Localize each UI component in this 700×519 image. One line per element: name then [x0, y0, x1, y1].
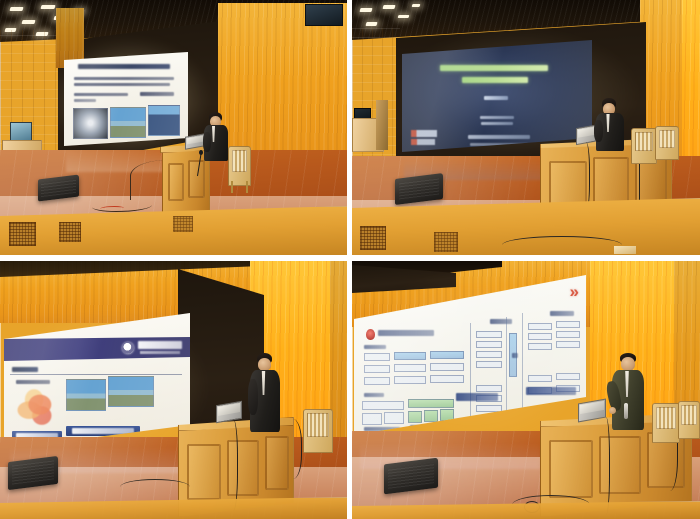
slide-body-line	[74, 93, 128, 96]
collage-panel-top-left	[0, 0, 347, 255]
slide-body-line	[74, 83, 170, 86]
double-chevron-icon: »	[570, 283, 578, 300]
diagram-block	[430, 351, 464, 359]
diagram-block	[424, 410, 438, 422]
hand	[609, 407, 616, 414]
projection-screen	[64, 52, 188, 146]
diagram-block	[394, 364, 426, 372]
collage-panel-bottom-right: »	[352, 261, 700, 519]
speaker-person	[596, 98, 630, 150]
slide-body-line	[74, 77, 174, 80]
slide-thumbnail	[108, 376, 154, 407]
diagram-block	[556, 373, 580, 380]
slide-thumbnail	[73, 108, 108, 139]
diagram-block	[476, 341, 502, 348]
slide-title	[378, 330, 434, 336]
diagram-block	[528, 343, 552, 350]
slide-university-header	[4, 337, 190, 361]
arm	[248, 379, 258, 415]
diagram-group-label	[490, 319, 512, 324]
diagram-block	[364, 353, 390, 361]
university-emblem-icon	[122, 342, 134, 354]
diagram-block	[528, 323, 552, 330]
chair	[655, 126, 679, 160]
slide-footer-caption	[468, 135, 530, 139]
slide-subheading	[16, 380, 50, 384]
apron-vent-grille	[9, 222, 36, 246]
slide-thumbnail	[66, 379, 106, 411]
projection-screen	[402, 40, 592, 152]
photo-collage: »	[0, 0, 700, 519]
slide-presenter-line	[484, 96, 508, 100]
ceiling-light	[365, 22, 377, 26]
university-name-romanized	[140, 351, 180, 354]
floor-cable	[226, 419, 238, 511]
slide-footer-logo	[411, 130, 437, 137]
head	[621, 357, 635, 371]
diagram-block	[394, 376, 426, 384]
diagram-block	[408, 411, 422, 423]
floor-cable	[120, 479, 190, 495]
slide-section-heading	[12, 367, 38, 372]
apron-vent-grille	[434, 232, 458, 252]
ceiling-light	[412, 4, 421, 7]
diagram-block	[476, 351, 502, 358]
diagram-block	[528, 375, 552, 382]
floor-cable	[600, 417, 610, 515]
slide-map-graphic	[12, 387, 60, 429]
speaker-person	[250, 353, 286, 435]
diagram-block	[364, 377, 390, 385]
side-column	[376, 100, 388, 150]
chair	[228, 146, 251, 186]
diagram-divider	[470, 323, 471, 427]
collage-panel-top-right	[352, 0, 700, 255]
ceiling-light	[359, 8, 372, 12]
diagram-group-caption	[526, 387, 576, 395]
diagram-block	[394, 352, 426, 360]
diagram-center-label	[512, 353, 518, 358]
diagram-block	[364, 365, 390, 373]
diagram-block	[476, 361, 502, 368]
slide-affiliation-line	[481, 122, 513, 125]
diagram-block	[362, 413, 382, 425]
chair	[631, 128, 657, 164]
diagram-block	[556, 331, 580, 338]
chair	[303, 409, 333, 453]
diagram-block	[384, 412, 404, 424]
diagram-block	[430, 375, 464, 383]
apron-vent-grille	[59, 222, 81, 242]
diagram-block	[528, 333, 552, 340]
slide-title-line	[440, 65, 548, 71]
diagram-block	[476, 331, 502, 338]
ceiling-light	[21, 20, 35, 24]
ceiling-light	[382, 5, 395, 9]
diagram-group-label	[550, 311, 574, 316]
diagram-block	[476, 385, 502, 392]
slide-body-line	[74, 99, 96, 102]
diagram-block	[476, 405, 502, 412]
diagram-divider	[506, 317, 507, 423]
chair	[652, 403, 680, 443]
upper-monitor	[305, 4, 343, 26]
university-name	[138, 341, 182, 349]
slide-body-line	[140, 92, 174, 96]
slide-thumbnail	[110, 107, 146, 138]
diagram-block	[556, 341, 580, 348]
slide-affiliation-line	[480, 116, 514, 119]
arm	[203, 132, 211, 152]
ceiling-light	[398, 15, 410, 18]
apron-vent-grille	[360, 226, 386, 250]
floor-cable	[502, 236, 622, 254]
handheld-microphone	[624, 403, 628, 419]
diagram-block	[556, 321, 580, 328]
floor-plate	[614, 246, 636, 254]
diagram-group-label	[364, 393, 384, 397]
institution-seal-icon	[366, 329, 375, 340]
apron-vent-grille	[173, 216, 193, 232]
wall-monitor	[10, 122, 32, 142]
slide-footer-logo	[411, 139, 435, 145]
chair	[678, 401, 700, 439]
speaker-person	[610, 353, 652, 433]
arm	[594, 120, 603, 142]
diagram-block	[430, 363, 464, 371]
diagram-block	[362, 401, 404, 410]
slide-title-line	[78, 64, 170, 69]
diagram-block	[408, 399, 454, 408]
slide-thumbnail	[148, 105, 180, 136]
slide-title-line	[462, 77, 528, 83]
diagram-group-caption	[456, 393, 498, 401]
slide-heading-underline	[10, 374, 182, 375]
diagram-divider	[522, 313, 523, 421]
floor-cable	[100, 206, 124, 211]
collage-panel-bottom-left	[0, 261, 347, 519]
ceiling-light	[9, 7, 23, 11]
diagram-group-label	[364, 345, 386, 349]
ceiling-light	[40, 5, 55, 9]
